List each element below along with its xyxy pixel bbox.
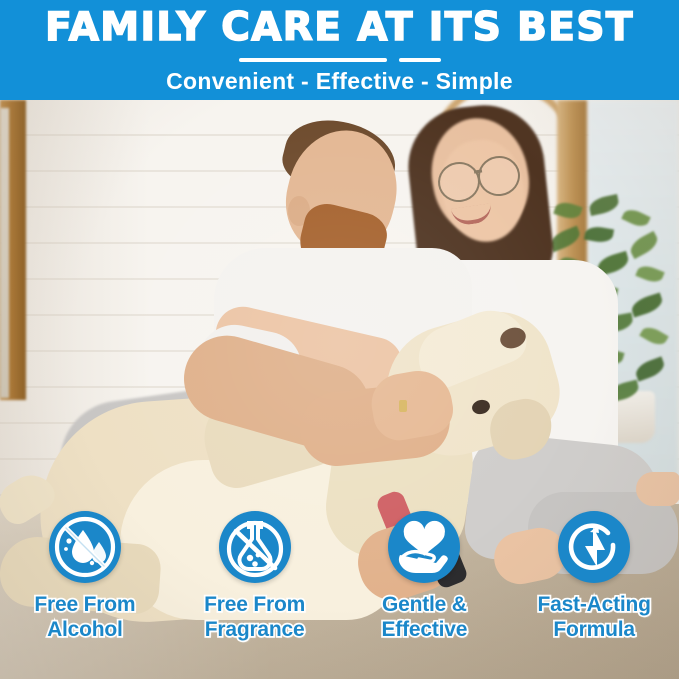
page-subtitle: Convenient - Effective - Simple xyxy=(0,66,679,96)
wedding-ring xyxy=(399,400,407,412)
feature-badge-label: Free From Fragrance xyxy=(204,592,305,642)
page-title: FAMILY CARE AT ITS BEST xyxy=(0,6,679,50)
door-glass-panel xyxy=(0,108,9,398)
feature-badge-label: Gentle & Effective xyxy=(382,592,468,642)
feature-badge: Fast-Acting Formula xyxy=(509,511,679,671)
divider-segment-long xyxy=(239,58,387,62)
feature-badge-row: Free From Alcohol Free From Fragrance xyxy=(0,511,679,671)
feature-badge-label: Free From Alcohol xyxy=(34,592,135,642)
hand-holding-heart-icon xyxy=(388,511,460,583)
feature-badge-label: Fast-Acting Formula xyxy=(537,592,650,642)
feature-badge: Free From Fragrance xyxy=(170,511,340,671)
lightning-bolt-refresh-icon xyxy=(558,511,630,583)
feature-badge: Gentle & Effective xyxy=(340,511,510,671)
woman-foot xyxy=(636,472,679,506)
header-banner: FAMILY CARE AT ITS BEST Convenient - Eff… xyxy=(0,0,679,100)
product-infographic: FAMILY CARE AT ITS BEST Convenient - Eff… xyxy=(0,0,679,679)
title-divider xyxy=(0,58,679,62)
no-alcohol-droplet-icon xyxy=(49,511,121,583)
feature-badge: Free From Alcohol xyxy=(0,511,170,671)
no-fragrance-flask-icon xyxy=(219,511,291,583)
divider-segment-short xyxy=(399,58,441,62)
